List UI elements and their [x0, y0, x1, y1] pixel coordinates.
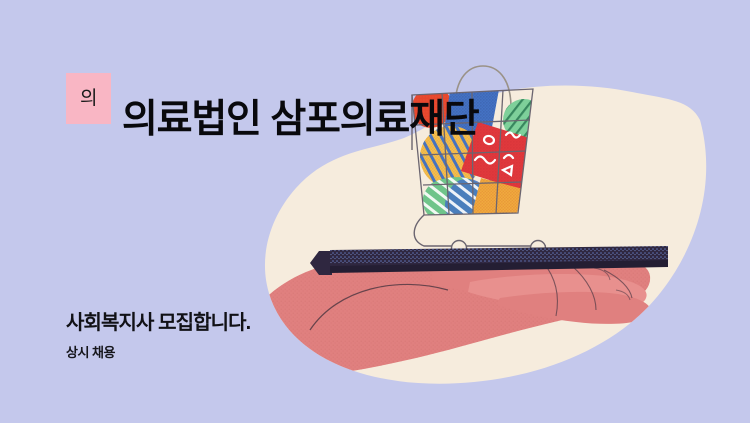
- recruitment-banner: 의 의료법인 삼포의료재단 사회복지사 모집합니다. 상시 채용: [0, 0, 750, 423]
- hiring-type-caption: 상시 채용: [66, 342, 115, 361]
- organization-initial-badge: 의: [66, 73, 111, 124]
- job-posting-headline: 사회복지사 모집합니다.: [66, 306, 250, 335]
- page-title: 의료법인 삼포의료재단: [122, 96, 478, 145]
- badge-label: 의: [80, 89, 97, 108]
